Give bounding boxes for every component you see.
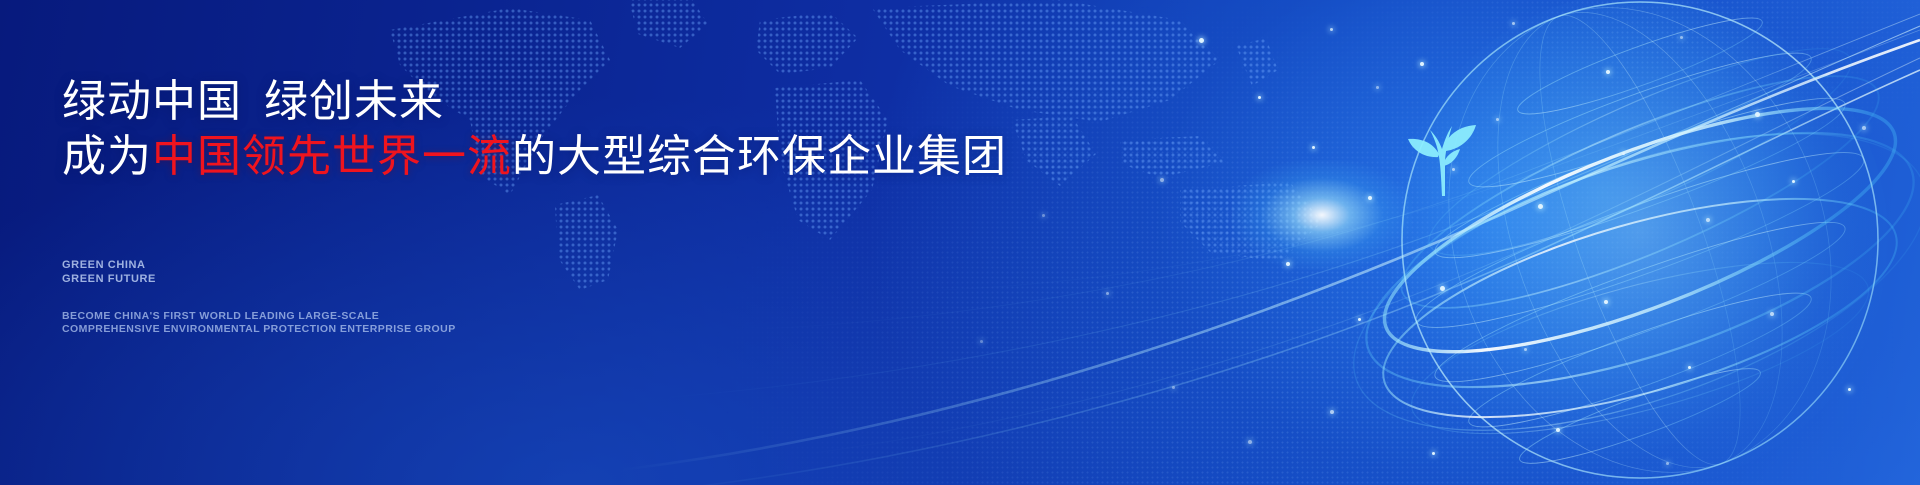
headline-2-highlight: 中国领先世界一流 [152, 132, 512, 181]
globe-core-flare [1232, 160, 1412, 270]
headline-2-suffix: 的大型综合环保企业集团 [512, 132, 1007, 181]
hero-banner: 绿动中国绿创未来 成为中国领先世界一流的大型综合环保企业集团 GREEN CHI… [0, 0, 1920, 485]
wireframe-globe [1320, 0, 1920, 485]
headline-line-2: 成为中国领先世界一流的大型综合环保企业集团 [62, 135, 1007, 179]
banner-copy: 绿动中国绿创未来 成为中国领先世界一流的大型综合环保企业集团 GREEN CHI… [62, 0, 1062, 485]
headline-1-part-b: 绿创未来 [264, 77, 444, 126]
headline-2-prefix: 成为 [62, 132, 152, 181]
headline-1-part-a: 绿动中国 [62, 77, 242, 126]
tagline-english-line-1: GREEN CHINA [62, 258, 156, 272]
subline-english-line-1: BECOME CHINA'S FIRST WORLD LEADING LARGE… [62, 310, 456, 323]
sprout-icon [1402, 108, 1480, 198]
tagline-english-line-2: GREEN FUTURE [62, 272, 156, 286]
subline-english: BECOME CHINA'S FIRST WORLD LEADING LARGE… [62, 310, 456, 337]
tagline-english: GREEN CHINA GREEN FUTURE [62, 258, 156, 286]
subline-english-line-2: COMPREHENSIVE ENVIRONMENTAL PROTECTION E… [62, 323, 456, 336]
headline-line-1: 绿动中国绿创未来 [62, 80, 444, 124]
